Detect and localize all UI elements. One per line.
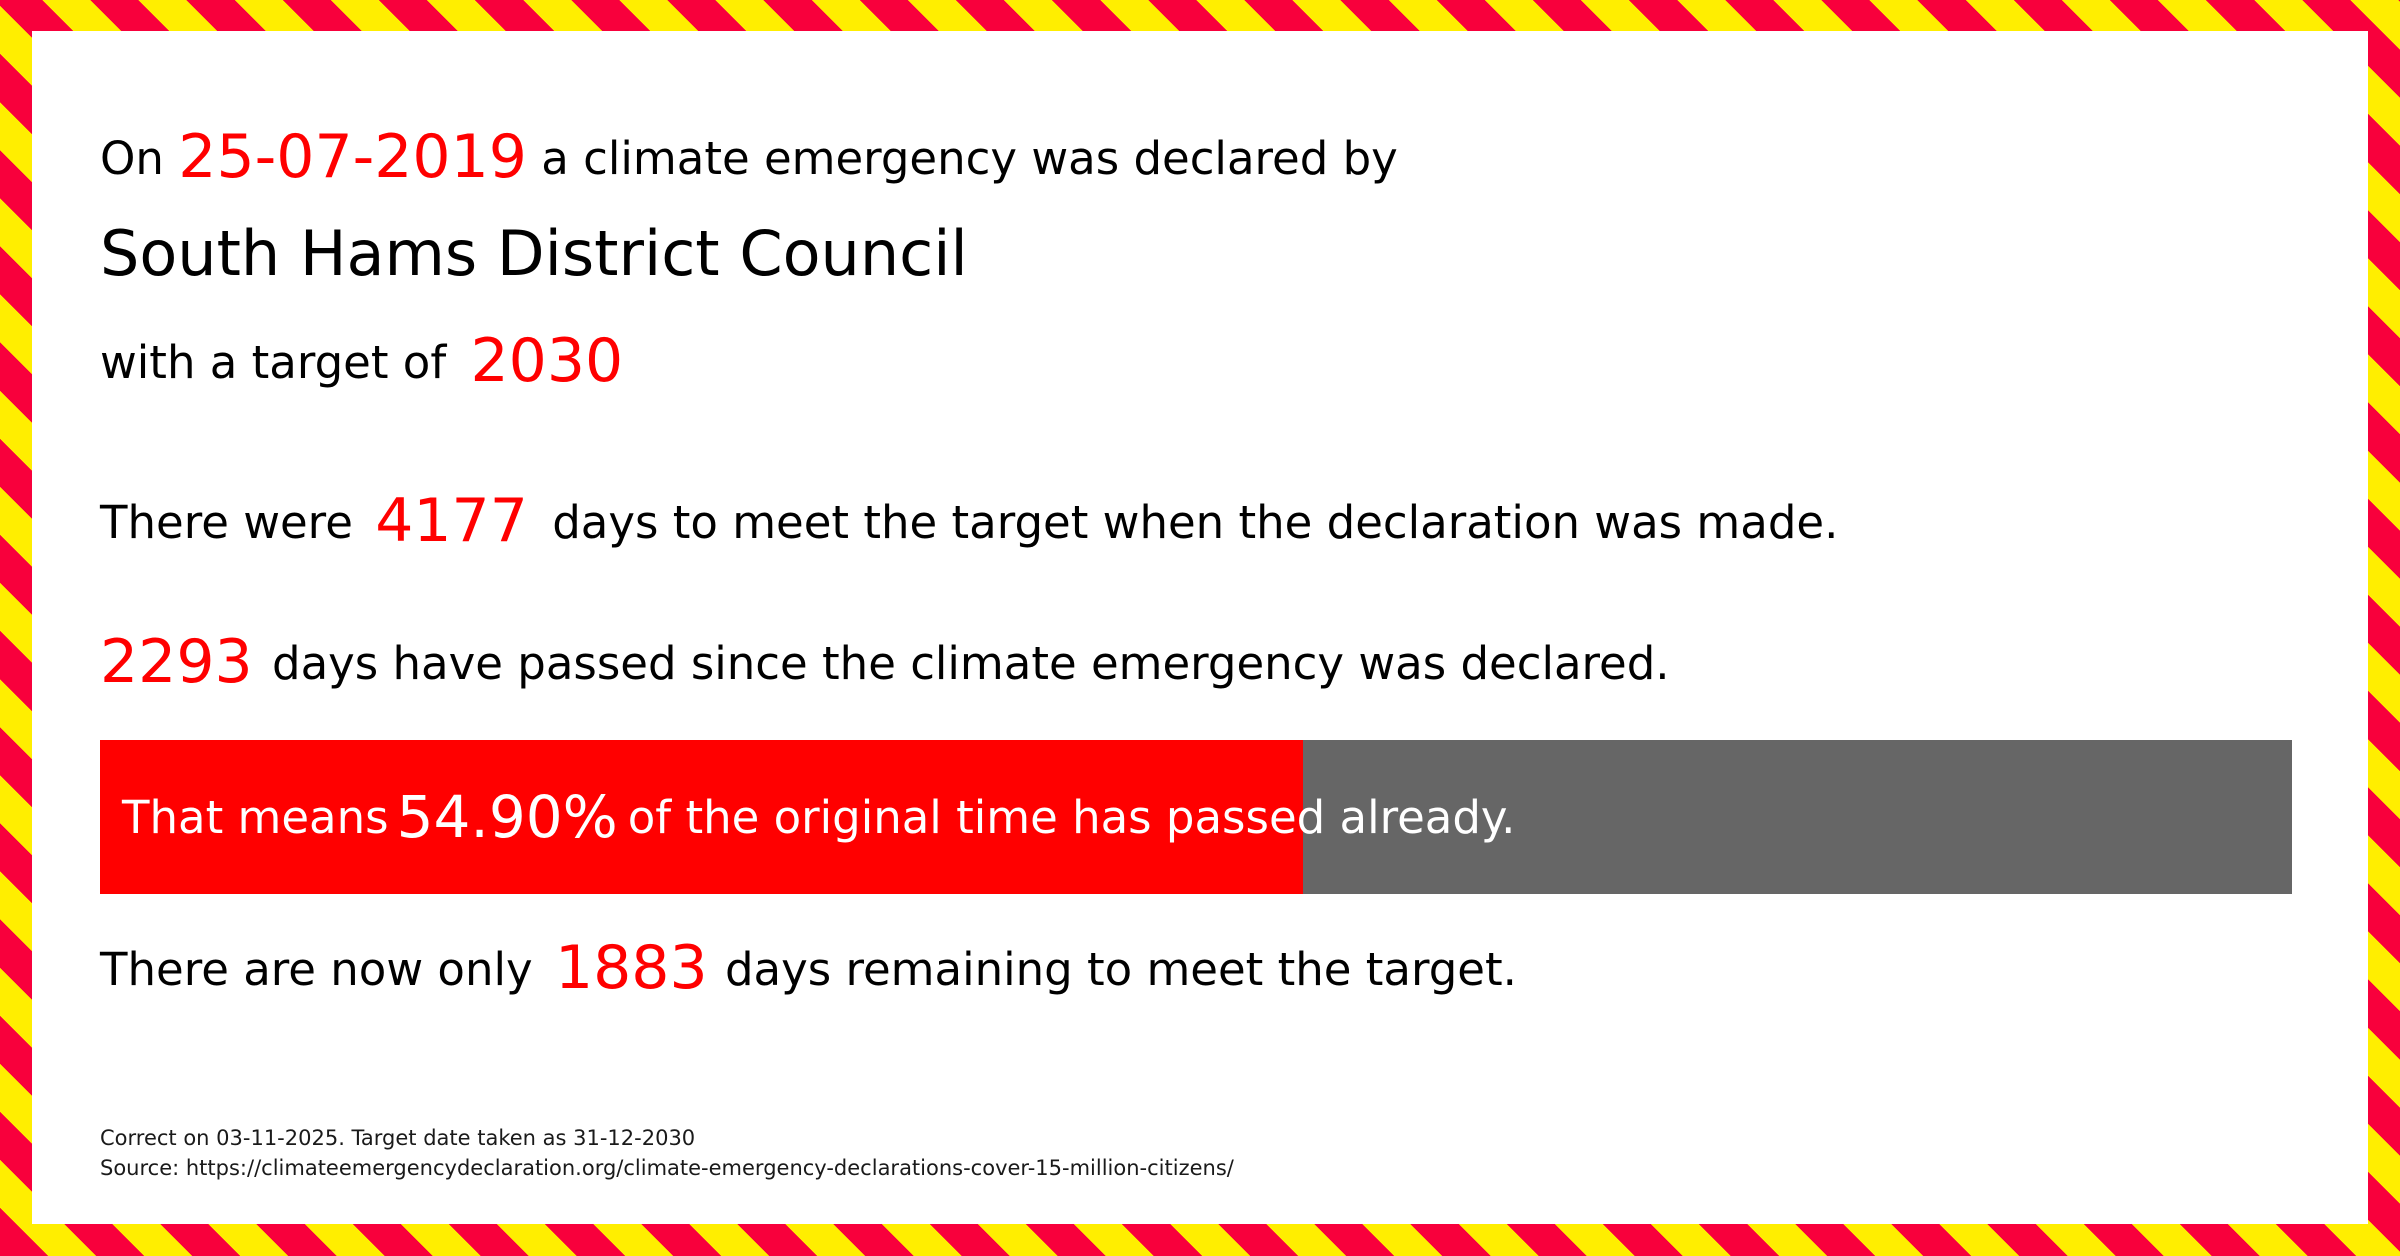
original-prefix: There were [100,496,353,549]
remaining-suffix: days remaining to meet the target. [725,943,1517,996]
progress-suffix: of the original time has passed already. [628,791,1516,844]
original-window-line: There were 4177 days to meet the target … [100,491,1838,551]
days-passed-value: 2293 [100,627,258,697]
days-remaining-line: There are now only 1883 days remaining t… [100,933,1517,1003]
poster-card: On 25-07-2019 a climate emergency was de… [32,31,2368,1224]
progress-bar: That means 54.90% of the original time h… [100,740,2292,894]
original-suffix: days to meet the target when the declara… [552,496,1838,549]
target-line: with a target of 2030 [100,331,623,391]
hazard-border-frame: On 25-07-2019 a climate emergency was de… [0,0,2400,1256]
progress-percent: 54.90% [389,783,628,851]
remaining-prefix: There are now only [100,943,533,996]
progress-bar-label: That means 54.90% of the original time h… [100,740,2292,894]
council-name: South Hams District Council [100,223,968,285]
declaration-prefix: On [100,132,164,185]
declaration-suffix: a climate emergency was declared by [541,132,1398,185]
footnote-source: Source: https://climateemergencydeclarat… [100,1153,1234,1183]
remaining-days: 1883 [547,933,711,1003]
target-year: 2030 [460,326,623,396]
progress-prefix: That means [122,791,389,844]
declaration-date: 25-07-2019 [178,122,527,192]
footnote-correct-on: Correct on 03-11-2025. Target date taken… [100,1123,1234,1153]
footnote: Correct on 03-11-2025. Target date taken… [100,1123,1234,1184]
declaration-line: On 25-07-2019 a climate emergency was de… [100,127,1398,187]
target-prefix: with a target of [100,336,446,389]
days-passed-suffix: days have passed since the climate emerg… [272,637,1670,690]
days-passed-line: 2293 days have passed since the climate … [100,632,1670,692]
original-days: 4177 [367,486,538,556]
